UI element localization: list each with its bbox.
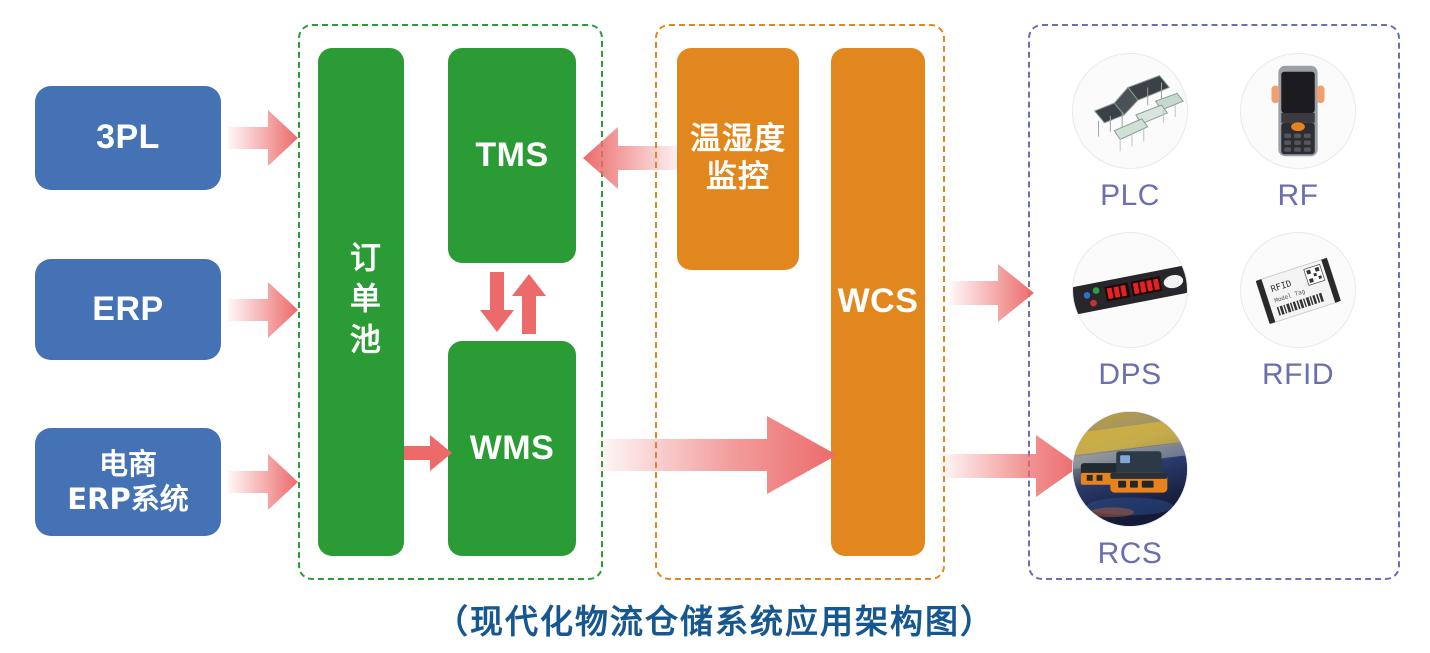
env-monitor-label-line1: 温湿度 — [690, 121, 786, 159]
device-label-rf: RF — [1278, 179, 1319, 213]
device-label-plc: PLC — [1100, 179, 1160, 213]
handheld-terminal-icon — [1240, 53, 1356, 169]
source-box-3pl: 3PL — [35, 86, 221, 190]
arrow-wcs-to-devices — [950, 262, 1034, 324]
display-picking-icon — [1072, 232, 1188, 348]
device-label-rcs: RCS — [1098, 537, 1163, 571]
device-rcs[interactable]: RCS — [1072, 411, 1188, 571]
agv-robot-icon — [1072, 411, 1188, 527]
tms-label: TMS — [475, 135, 548, 176]
diagram-caption: （现代化物流仓储系统应用架构图） — [0, 595, 1430, 643]
wms-label: WMS — [470, 428, 555, 469]
source-label-ecommerce-line2: ERP系统 — [67, 482, 188, 517]
wcs-box: WCS — [831, 48, 925, 556]
wcs-label: WCS — [838, 281, 919, 322]
device-rfid[interactable]: RFID Model Tag — [1240, 232, 1356, 392]
arrow-erp-to-pool — [228, 280, 298, 340]
arrow-3pl-to-pool — [228, 108, 298, 168]
conveyor-icon — [1072, 53, 1188, 169]
env-monitor-label-line2: 监控 — [706, 159, 770, 197]
source-label-3pl: 3PL — [96, 117, 160, 158]
device-label-rfid: RFID — [1262, 358, 1334, 392]
rfid-tag-icon: RFID Model Tag — [1240, 232, 1356, 348]
device-plc[interactable]: PLC — [1072, 53, 1188, 213]
source-box-ecommerce-erp: 电商 ERP系统 — [35, 428, 221, 536]
env-monitor-box: 温湿度 监控 — [677, 48, 799, 270]
wms-box: WMS — [448, 341, 576, 556]
arrow-tms-wms-exchange — [478, 272, 548, 334]
arrow-ecommerce-to-pool — [228, 452, 298, 512]
order-pool-label: 订单池 — [342, 241, 380, 364]
source-label-ecommerce-line1: 电商 — [99, 447, 157, 482]
tms-box: TMS — [448, 48, 576, 263]
arrow-pool-to-wms — [404, 433, 452, 473]
device-label-dps: DPS — [1098, 358, 1161, 392]
source-box-erp: ERP — [35, 259, 221, 360]
source-label-erp: ERP — [92, 289, 163, 330]
arrow-wcs-to-rcs — [940, 433, 1080, 499]
architecture-diagram: 3PL ERP 电商 ERP系统 — [0, 0, 1430, 653]
device-rf[interactable]: RF — [1240, 53, 1356, 213]
device-dps[interactable]: DPS — [1072, 232, 1188, 392]
order-pool-box: 订单池 — [318, 48, 404, 556]
arrow-wms-to-wcs — [597, 412, 837, 498]
arrow-env-to-tms — [583, 125, 683, 191]
